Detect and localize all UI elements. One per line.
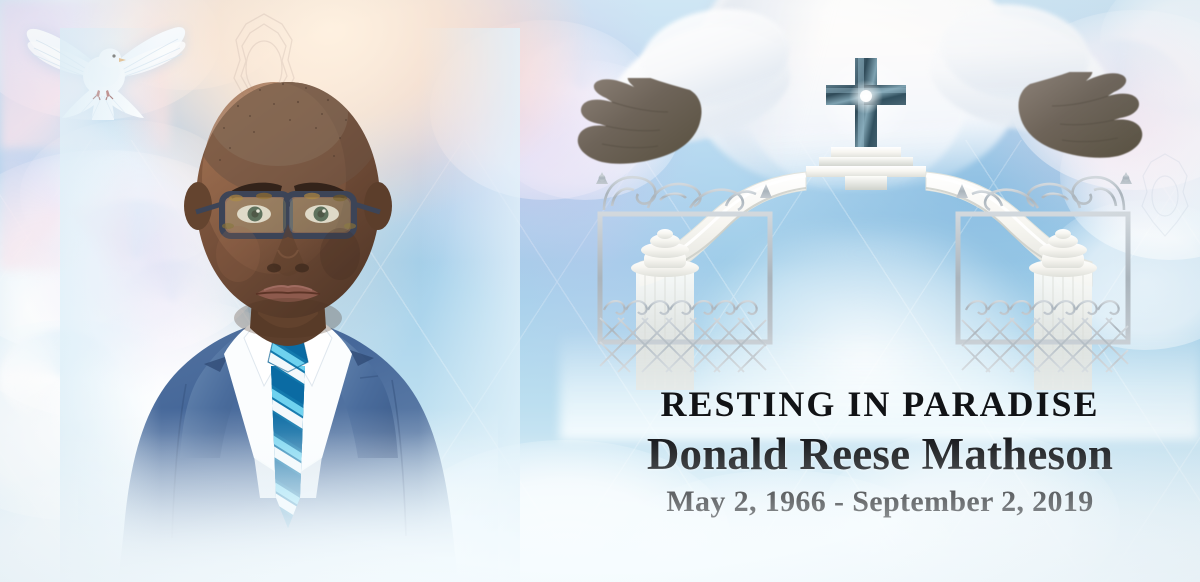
portrait-photo [78,28,498,582]
memorial-text-block: RESTING IN PARADISE Donald Reese Matheso… [580,386,1180,517]
memorial-banner: RESTING IN PARADISE Donald Reese Matheso… [0,0,1200,582]
deceased-name: Donald Reese Matheson [580,432,1180,477]
heading-resting-in-paradise: RESTING IN PARADISE [580,386,1180,422]
arch-keystone [806,147,926,190]
life-dates: May 2, 1966 - September 2, 2019 [580,487,1180,517]
head [184,50,392,338]
